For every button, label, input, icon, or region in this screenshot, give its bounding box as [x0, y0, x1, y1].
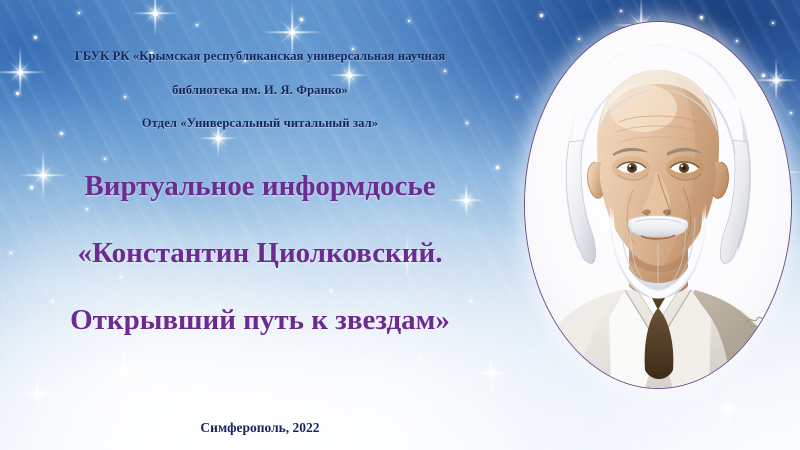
title-line-2: «Константин Циолковский.: [0, 239, 520, 268]
title-line-1: Виртуальное информдосье: [0, 172, 520, 201]
portrait-illustration-icon: [525, 22, 791, 388]
text-column: ГБУК РК «Крымская республиканская универ…: [0, 0, 520, 450]
portrait-oval-frame: [524, 21, 792, 389]
place-year-label: Симферополь, 2022: [0, 421, 520, 435]
title-line-3: Открывший путь к звездам»: [0, 306, 520, 335]
organization-line-3: Отдел «Универсальный читальный зал»: [0, 117, 520, 130]
organization-block: ГБУК РК «Крымская республиканская универ…: [0, 50, 520, 130]
page-title: Виртуальное информдосье «Константин Циол…: [0, 172, 520, 335]
organization-line-1: ГБУК РК «Крымская республиканская универ…: [0, 50, 520, 63]
organization-line-2: библиотека им. И. Я. Франко»: [0, 84, 520, 97]
presentation-slide: ГБУК РК «Крымская республиканская универ…: [0, 0, 800, 450]
